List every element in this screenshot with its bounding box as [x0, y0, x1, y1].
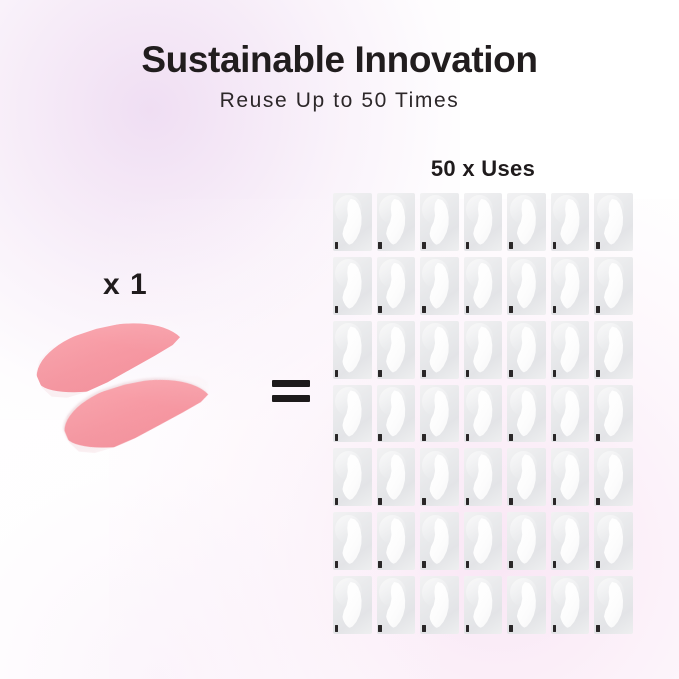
page-title: Sustainable Innovation [0, 40, 679, 81]
sachet-tear-notch [553, 625, 557, 632]
white-eye-patch-icon [515, 582, 537, 628]
white-eye-patch-icon [427, 518, 449, 564]
sachet-tear-notch [422, 561, 426, 568]
sachet-tear-notch [509, 434, 513, 441]
sachet-cell [420, 193, 459, 251]
sachet-cell [507, 576, 546, 634]
sachet-cell [333, 257, 372, 315]
sachet-cell [551, 448, 590, 506]
white-eye-patch-icon [558, 199, 580, 245]
white-eye-patch-icon [515, 263, 537, 309]
sachet-cell [551, 257, 590, 315]
white-eye-patch-icon [427, 199, 449, 245]
white-eye-patch-icon [558, 518, 580, 564]
sachet-cell [420, 385, 459, 443]
sachet-cell [594, 512, 633, 570]
white-eye-patch-icon [602, 390, 624, 436]
white-eye-patch-icon [515, 326, 537, 372]
sachet-cell [594, 321, 633, 379]
sachet-cell [420, 321, 459, 379]
white-eye-patch-icon [602, 582, 624, 628]
sachet-tear-notch [509, 561, 513, 568]
sachet-cell [594, 257, 633, 315]
equals-bar-top [272, 380, 310, 387]
white-eye-patch-icon [340, 326, 362, 372]
white-eye-patch-icon [471, 454, 493, 500]
white-eye-patch-icon [384, 518, 406, 564]
white-eye-patch-icon [602, 199, 624, 245]
sachet-cell [420, 512, 459, 570]
sachet-cell [377, 193, 416, 251]
sachet-tear-notch [422, 498, 426, 505]
sachet-cell [464, 576, 503, 634]
sachet-tear-notch [378, 306, 382, 313]
sachet-tear-notch [335, 625, 339, 632]
white-eye-patch-icon [515, 518, 537, 564]
equals-sign-icon [272, 380, 310, 406]
sachet-cell [377, 257, 416, 315]
sachet-tear-notch [553, 561, 557, 568]
sachet-cell [333, 576, 372, 634]
sachet-cell [551, 576, 590, 634]
white-eye-patch-icon [340, 390, 362, 436]
sachet-tear-notch [553, 242, 557, 249]
white-eye-patch-icon [340, 454, 362, 500]
sachet-tear-notch [422, 306, 426, 313]
white-eye-patch-icon [558, 454, 580, 500]
white-eye-patch-icon [384, 326, 406, 372]
white-eye-patch-icon [384, 263, 406, 309]
white-eye-patch-icon [558, 582, 580, 628]
white-eye-patch-icon [427, 582, 449, 628]
infographic-canvas: Sustainable Innovation Reuse Up to 50 Ti… [0, 0, 679, 679]
sachet-cell [507, 193, 546, 251]
sachet-tear-notch [378, 242, 382, 249]
white-eye-patch-icon [384, 390, 406, 436]
white-eye-patch-icon [471, 199, 493, 245]
white-eye-patch-icon [515, 454, 537, 500]
sachet-tear-notch [466, 561, 470, 568]
white-eye-patch-icon [471, 518, 493, 564]
sachet-cell [464, 321, 503, 379]
white-eye-patch-icon [340, 263, 362, 309]
sachet-cell [333, 512, 372, 570]
sachet-cell [377, 385, 416, 443]
disposable-sachet-grid [333, 193, 633, 634]
sachet-tear-notch [553, 370, 557, 377]
sachet-cell [464, 257, 503, 315]
white-eye-patch-icon [471, 390, 493, 436]
sachet-tear-notch [378, 434, 382, 441]
sachet-cell [594, 576, 633, 634]
white-eye-patch-icon [384, 582, 406, 628]
sachet-cell [507, 321, 546, 379]
reusable-patch-group [22, 320, 237, 480]
white-eye-patch-icon [515, 390, 537, 436]
sachet-tear-notch [466, 306, 470, 313]
white-eye-patch-icon [340, 199, 362, 245]
sachet-cell [333, 321, 372, 379]
sachet-tear-notch [509, 370, 513, 377]
sachet-tear-notch [466, 370, 470, 377]
sachet-tear-notch [596, 306, 600, 313]
sachet-tear-notch [422, 625, 426, 632]
sachet-tear-notch [335, 370, 339, 377]
sachet-cell [507, 448, 546, 506]
sachet-cell [551, 385, 590, 443]
white-eye-patch-icon [427, 326, 449, 372]
sachet-cell [594, 193, 633, 251]
white-eye-patch-icon [471, 326, 493, 372]
sachet-cell [420, 576, 459, 634]
sachet-cell [507, 257, 546, 315]
sachet-tear-notch [509, 498, 513, 505]
sachet-cell [333, 448, 372, 506]
white-eye-patch-icon [384, 454, 406, 500]
sachet-tear-notch [553, 306, 557, 313]
white-eye-patch-icon [427, 454, 449, 500]
sachet-cell [594, 448, 633, 506]
sachet-cell [333, 385, 372, 443]
sachet-tear-notch [378, 561, 382, 568]
sachet-tear-notch [335, 498, 339, 505]
sachet-tear-notch [335, 306, 339, 313]
sachet-cell [507, 385, 546, 443]
sachet-tear-notch [466, 625, 470, 632]
white-eye-patch-icon [602, 454, 624, 500]
sachet-cell [377, 321, 416, 379]
sachet-cell [420, 257, 459, 315]
white-eye-patch-icon [427, 263, 449, 309]
sachet-tear-notch [509, 242, 513, 249]
sachet-tear-notch [466, 434, 470, 441]
sachet-cell [464, 448, 503, 506]
sachet-tear-notch [553, 434, 557, 441]
sachet-tear-notch [596, 561, 600, 568]
sachet-tear-notch [422, 370, 426, 377]
sachet-tear-notch [509, 306, 513, 313]
sachet-tear-notch [378, 370, 382, 377]
white-eye-patch-icon [471, 582, 493, 628]
sachet-tear-notch [466, 498, 470, 505]
page-subtitle: Reuse Up to 50 Times [0, 88, 679, 113]
sachet-tear-notch [335, 434, 339, 441]
sachet-cell [507, 512, 546, 570]
sachet-tear-notch [335, 561, 339, 568]
sachet-tear-notch [335, 242, 339, 249]
sachet-cell [464, 193, 503, 251]
white-eye-patch-icon [340, 582, 362, 628]
sachet-tear-notch [422, 242, 426, 249]
sachet-tear-notch [509, 625, 513, 632]
equals-bar-bottom [272, 395, 310, 402]
sachet-cell [377, 448, 416, 506]
sachet-cell [420, 448, 459, 506]
white-eye-patch-icon [384, 199, 406, 245]
white-eye-patch-icon [602, 518, 624, 564]
sachet-tear-notch [596, 242, 600, 249]
white-eye-patch-icon [602, 326, 624, 372]
white-eye-patch-icon [558, 263, 580, 309]
sachet-tear-notch [378, 498, 382, 505]
sachet-tear-notch [596, 370, 600, 377]
sachet-tear-notch [553, 498, 557, 505]
sachet-cell [464, 385, 503, 443]
sachet-cell [464, 512, 503, 570]
white-eye-patch-icon [427, 390, 449, 436]
sachet-cell [594, 385, 633, 443]
sachet-tear-notch [422, 434, 426, 441]
reusable-count-label: x 1 [103, 268, 148, 302]
sachet-tear-notch [596, 625, 600, 632]
sachet-tear-notch [596, 498, 600, 505]
sachet-tear-notch [596, 434, 600, 441]
white-eye-patch-icon [558, 326, 580, 372]
sachet-tear-notch [466, 242, 470, 249]
sachet-cell [551, 321, 590, 379]
sachet-cell [377, 512, 416, 570]
white-eye-patch-icon [602, 263, 624, 309]
sachet-cell [377, 576, 416, 634]
uses-count-label: 50 x Uses [333, 156, 633, 182]
sachet-cell [333, 193, 372, 251]
white-eye-patch-icon [471, 263, 493, 309]
white-eye-patch-icon [340, 518, 362, 564]
sachet-cell [551, 512, 590, 570]
white-eye-patch-icon [515, 199, 537, 245]
sachet-cell [551, 193, 590, 251]
sachet-tear-notch [378, 625, 382, 632]
white-eye-patch-icon [558, 390, 580, 436]
